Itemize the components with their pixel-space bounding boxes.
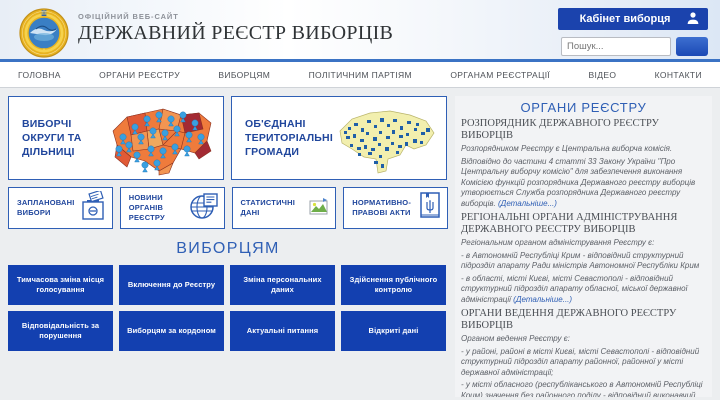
sidebar-organy-reestru: ОРГАНИ РЕЄСТРУ РОЗПОРЯДНИК ДЕРЖАВНОГО РЕ… [455, 96, 712, 397]
main-navigation: ГОЛОВНА ОРГАНИ РЕЄСТРУ ВИБОРЦЯМ ПОЛІТИЧН… [0, 62, 720, 88]
tile-label: НОВИНИ ОРГАНІВ РЕЄСТРУ [129, 193, 189, 223]
section-paragraph: Регіональним органом адміністрування Реє… [461, 238, 706, 249]
search-input[interactable] [561, 37, 671, 56]
voters-button-grid: Тимчасова зміна місця голосування Включе… [8, 265, 448, 351]
chart-image-icon [308, 195, 330, 222]
tile-obyednani-hromady[interactable]: ОБ'ЄДНАНІ ТЕРИТОРІАЛЬНІ ГРОМАДИ [231, 96, 447, 180]
small-tiles-row: ЗАПЛАНОВАНІ ВИБОРИ НОВИНИ ОРГАНІВ [8, 187, 448, 229]
nav-item-video[interactable]: ВІДЕО [588, 70, 616, 80]
section-heading: ОРГАНИ ВЕДЕННЯ ДЕРЖАВНОГО РЕЄСТРУ ВИБОРЦ… [461, 308, 706, 332]
section-paragraph: - в області, місті Києві, місті Севастоп… [461, 274, 706, 306]
voters-section-title: ВИБОРЦЯМ [8, 240, 448, 258]
law-book-icon [418, 191, 442, 226]
tile-statystychni-dani[interactable]: СТАТИСТИЧНІ ДАНІ [232, 187, 337, 229]
big-tiles-row: ВИБОРЧІ ОКРУГИ ТА ДІЛЬНИЦІ [8, 96, 448, 180]
voter-cabinet-button[interactable]: Кабінет виборця [558, 8, 708, 30]
details-link[interactable]: (Детальніше...) [498, 199, 557, 208]
voters-button-publichnyi-kontrol[interactable]: Здійснення публічного контролю [341, 265, 446, 305]
search-area [561, 37, 708, 56]
sidebar-section-rozporyadnyk: РОЗПОРЯДНИК ДЕРЖАВНОГО РЕЄСТРУ ВИБОРЦІВ … [461, 118, 706, 209]
voters-button-aktualni-pytannya[interactable]: Актуальні питання [230, 311, 335, 351]
tile-zaplanovani-vybory[interactable]: ЗАПЛАНОВАНІ ВИБОРИ [8, 187, 113, 229]
voter-cabinet-label: Кабінет виборця [570, 13, 680, 25]
tile-vyborchi-okruhy[interactable]: ВИБОРЧІ ОКРУГИ ТА ДІЛЬНИЦІ [8, 96, 224, 180]
globe-news-icon [189, 191, 219, 226]
tile-label: ВИБОРЧІ ОКРУГИ ТА ДІЛЬНИЦІ [9, 117, 107, 159]
tile-label: ОБ'ЄДНАНІ ТЕРИТОРІАЛЬНІ ГРОМАДИ [232, 117, 330, 159]
section-paragraph: - у місті обласного (республіканського в… [461, 380, 706, 397]
voters-button-zmina-danykh[interactable]: Зміна персональних даних [230, 265, 335, 305]
page-root: ОФІЦІЙНИЙ ВЕБ-САЙТ ДЕРЖАВНИЙ РЕЄСТР ВИБО… [0, 0, 720, 400]
section-paragraph: - у районі, районі в місті Києві, місті … [461, 347, 706, 379]
sidebar-title: ОРГАНИ РЕЄСТРУ [461, 100, 706, 115]
main-column: ВИБОРЧІ ОКРУГИ ТА ДІЛЬНИЦІ [8, 96, 448, 397]
voters-button-vklyuchennya[interactable]: Включення до Реєстру [119, 265, 224, 305]
sidebar-section-regionalni: РЕГІОНАЛЬНІ ОРГАНИ АДМІНІСТРУВАННЯ ДЕРЖА… [461, 212, 706, 305]
districts-map-icon [107, 101, 219, 177]
voters-button-za-kordonom[interactable]: Виборцям за кордоном [119, 311, 224, 351]
nav-item-kontakty[interactable]: КОНТАКТИ [655, 70, 702, 80]
paragraph-text: Відповідно до частини 4 статті 33 Закону… [461, 157, 695, 208]
section-heading: РЕГІОНАЛЬНІ ОРГАНИ АДМІНІСТРУВАННЯ ДЕРЖА… [461, 212, 706, 236]
user-icon [686, 11, 700, 28]
ballot-box-icon [79, 191, 107, 226]
sidebar-section-organy-vedennya: ОРГАНИ ВЕДЕННЯ ДЕРЖАВНОГО РЕЄСТРУ ВИБОРЦ… [461, 308, 706, 397]
site-header: ОФІЦІЙНИЙ ВЕБ-САЙТ ДЕРЖАВНИЙ РЕЄСТР ВИБО… [0, 0, 720, 62]
voters-button-vidkryti-dani[interactable]: Відкриті дані [341, 311, 446, 351]
tile-label: НОРМАТИВНО-ПРАВОВІ АКТИ [352, 198, 418, 218]
site-kicker: ОФІЦІЙНИЙ ВЕБ-САЙТ [78, 12, 393, 21]
state-emblem-icon [18, 7, 70, 59]
nav-item-golovna[interactable]: ГОЛОВНА [18, 70, 61, 80]
paragraph-text: - в області, місті Києві, місті Севастоп… [461, 274, 687, 304]
section-paragraph: Розпорядником Реєстру є Центральна вибор… [461, 144, 706, 155]
tile-novyny-organiv[interactable]: НОВИНИ ОРГАНІВ РЕЄСТРУ [120, 187, 225, 229]
nav-item-organy-reestru[interactable]: ОРГАНИ РЕЄСТРУ [99, 70, 180, 80]
voters-button-row: Відповідальність за порушення Виборцям з… [8, 311, 448, 351]
search-button[interactable] [676, 37, 708, 56]
details-link[interactable]: (Детальніше...) [513, 295, 572, 304]
nav-item-vybortsyam[interactable]: ВИБОРЦЯМ [218, 70, 270, 80]
nav-item-organam-reestratsii[interactable]: ОРГАНАМ РЕЄСТРАЦІЇ [450, 70, 550, 80]
voters-button-vidpovidalnist[interactable]: Відповідальність за порушення [8, 311, 113, 351]
voters-button-tymchasova-zmina[interactable]: Тимчасова зміна місця голосування [8, 265, 113, 305]
section-paragraph: Органом ведення Реєстру є: [461, 334, 706, 345]
section-paragraph: Відповідно до частини 4 статті 33 Закону… [461, 157, 706, 210]
page-title: ДЕРЖАВНИЙ РЕЄСТР ВИБОРЦІВ [78, 22, 393, 45]
voters-button-row: Тимчасова зміна місця голосування Включе… [8, 265, 448, 305]
communities-map-icon [330, 101, 442, 177]
tile-label: ЗАПЛАНОВАНІ ВИБОРИ [17, 198, 79, 218]
site-branding: ОФІЦІЙНИЙ ВЕБ-САЙТ ДЕРЖАВНИЙ РЕЄСТР ВИБО… [78, 12, 393, 45]
tile-normatyvno-pravovi-akty[interactable]: НОРМАТИВНО-ПРАВОВІ АКТИ [343, 187, 448, 229]
section-heading: РОЗПОРЯДНИК ДЕРЖАВНОГО РЕЄСТРУ ВИБОРЦІВ [461, 118, 706, 142]
content-area: ВИБОРЧІ ОКРУГИ ТА ДІЛЬНИЦІ [0, 88, 720, 397]
tile-label: СТАТИСТИЧНІ ДАНІ [241, 198, 309, 218]
section-paragraph: - в Автономній Республіці Крим - відпові… [461, 251, 706, 272]
nav-item-politychnym-partiyam[interactable]: ПОЛІТИЧНИМ ПАРТІЯМ [309, 70, 412, 80]
